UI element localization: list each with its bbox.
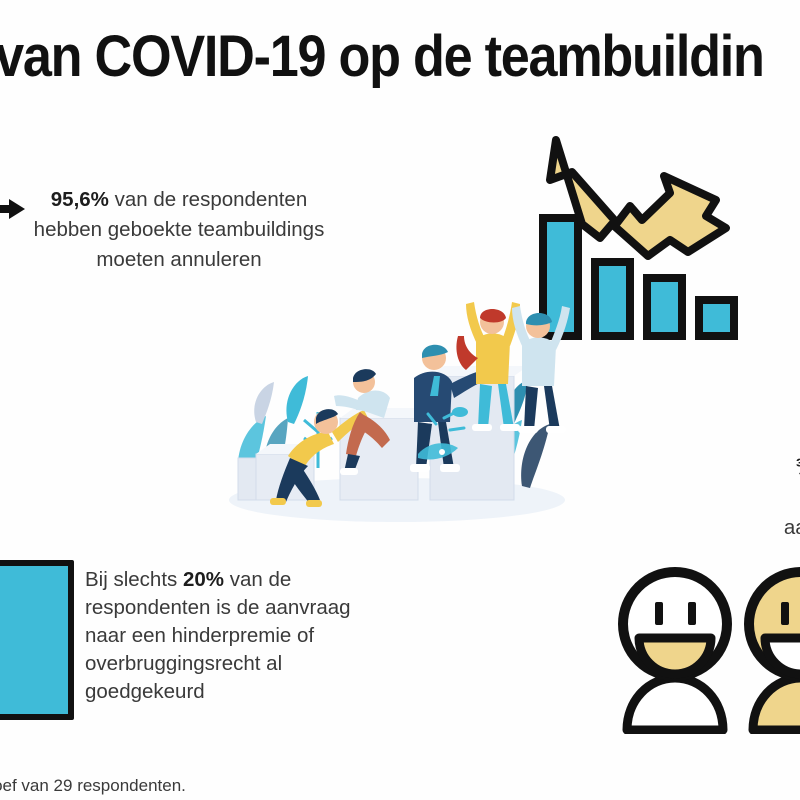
stat-cancelled-line3: moeten annuleren (96, 248, 261, 271)
smiley-person-white-icon (623, 572, 727, 730)
stat-right-mid: ¾ van de technis aangevraag (688, 452, 800, 543)
stat-right-top: 7 v min (770, 212, 800, 302)
stat-right-mid-line3: aangevraag (784, 516, 800, 539)
stat-approved-line3: naar een hinderpremie of (85, 624, 314, 647)
stat-approved-line1-post: van de (224, 568, 291, 591)
stat-cancelled-line2: hebben geboekte teambuildings (34, 218, 325, 241)
cyan-highlight-swatch (0, 560, 74, 720)
chart-bar-3 (647, 278, 682, 336)
stat-approved: Bij slechts 20% van de respondenten is d… (85, 566, 395, 706)
smiley-person-yellow-icon (749, 572, 800, 730)
stat-cancelled: 95,6% van de respondenten hebben geboekt… (0, 185, 364, 275)
page-title: ct van COVID-19 op de teambuildin (0, 22, 800, 92)
stat-approved-line5: goedgekeurd (85, 680, 205, 703)
team-climbing-podium-illustration (222, 272, 572, 527)
stat-approved-line1-pre: Bij slechts (85, 568, 183, 591)
stat-cancelled-line1: van de respondenten (109, 188, 307, 211)
stat-approved-line2: respondenten is de aanvraag (85, 596, 351, 619)
infographic-canvas: ct van COVID-19 op de teambuildin 95,6% … (0, 0, 800, 800)
footer-note: ekproef van 29 respondenten. (0, 775, 186, 797)
stat-cancelled-value: 95,6% (51, 188, 109, 211)
chart-bar-4 (699, 300, 734, 336)
smiley-people-icons (605, 552, 800, 734)
stat-approved-value: 20% (183, 568, 224, 591)
stat-right-mid-value: ¾ (795, 454, 800, 479)
chart-bar-2 (595, 262, 630, 336)
stat-approved-line4: overbruggingsrecht al (85, 652, 282, 675)
